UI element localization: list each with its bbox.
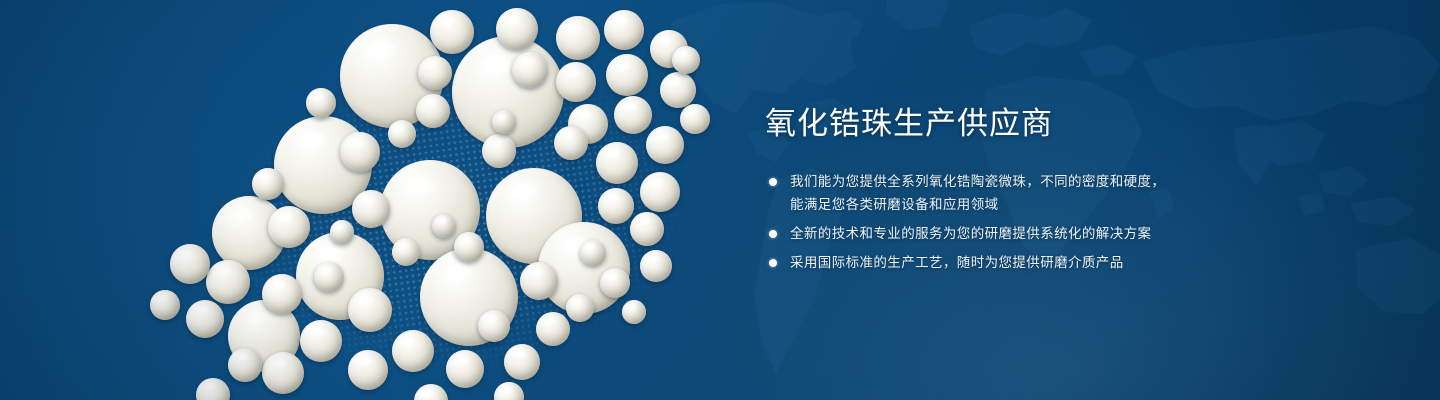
bullet-dot-icon	[769, 230, 777, 238]
bullet-dot-icon	[769, 259, 777, 267]
bullet-1-line-2: 能满足您各类研磨设备和应用领域	[790, 193, 1285, 216]
bullet-item-1: 我们能为您提供全系列氧化锆陶瓷微珠，不同的密度和硬度， 能满足您各类研磨设备和应…	[765, 170, 1285, 216]
bullet-2-line-1: 全新的技术和专业的服务为您的研磨提供系统化的解决方案	[790, 226, 1151, 241]
banner-copy: 氧化锆珠生产供应商 我们能为您提供全系列氧化锆陶瓷微珠，不同的密度和硬度， 能满…	[765, 104, 1285, 280]
bullet-item-2: 全新的技术和专业的服务为您的研磨提供系统化的解决方案	[765, 222, 1285, 245]
bullet-3-line-1: 采用国际标准的生产工艺，随时为您提供研磨介质产品	[790, 255, 1124, 270]
banner-headline: 氧化锆珠生产供应商	[765, 104, 1285, 144]
halftone-texture	[98, 3, 703, 400]
zirconia-beads-photo	[0, 0, 760, 400]
hero-banner: 氧化锆珠生产供应商 我们能为您提供全系列氧化锆陶瓷微珠，不同的密度和硬度， 能满…	[0, 0, 1440, 400]
bullet-item-3: 采用国际标准的生产工艺，随时为您提供研磨介质产品	[765, 251, 1285, 274]
bullet-dot-icon	[769, 178, 777, 186]
bullet-1-line-1: 我们能为您提供全系列氧化锆陶瓷微珠，不同的密度和硬度，	[790, 174, 1165, 189]
banner-bullet-list: 我们能为您提供全系列氧化锆陶瓷微珠，不同的密度和硬度， 能满足您各类研磨设备和应…	[765, 170, 1285, 274]
